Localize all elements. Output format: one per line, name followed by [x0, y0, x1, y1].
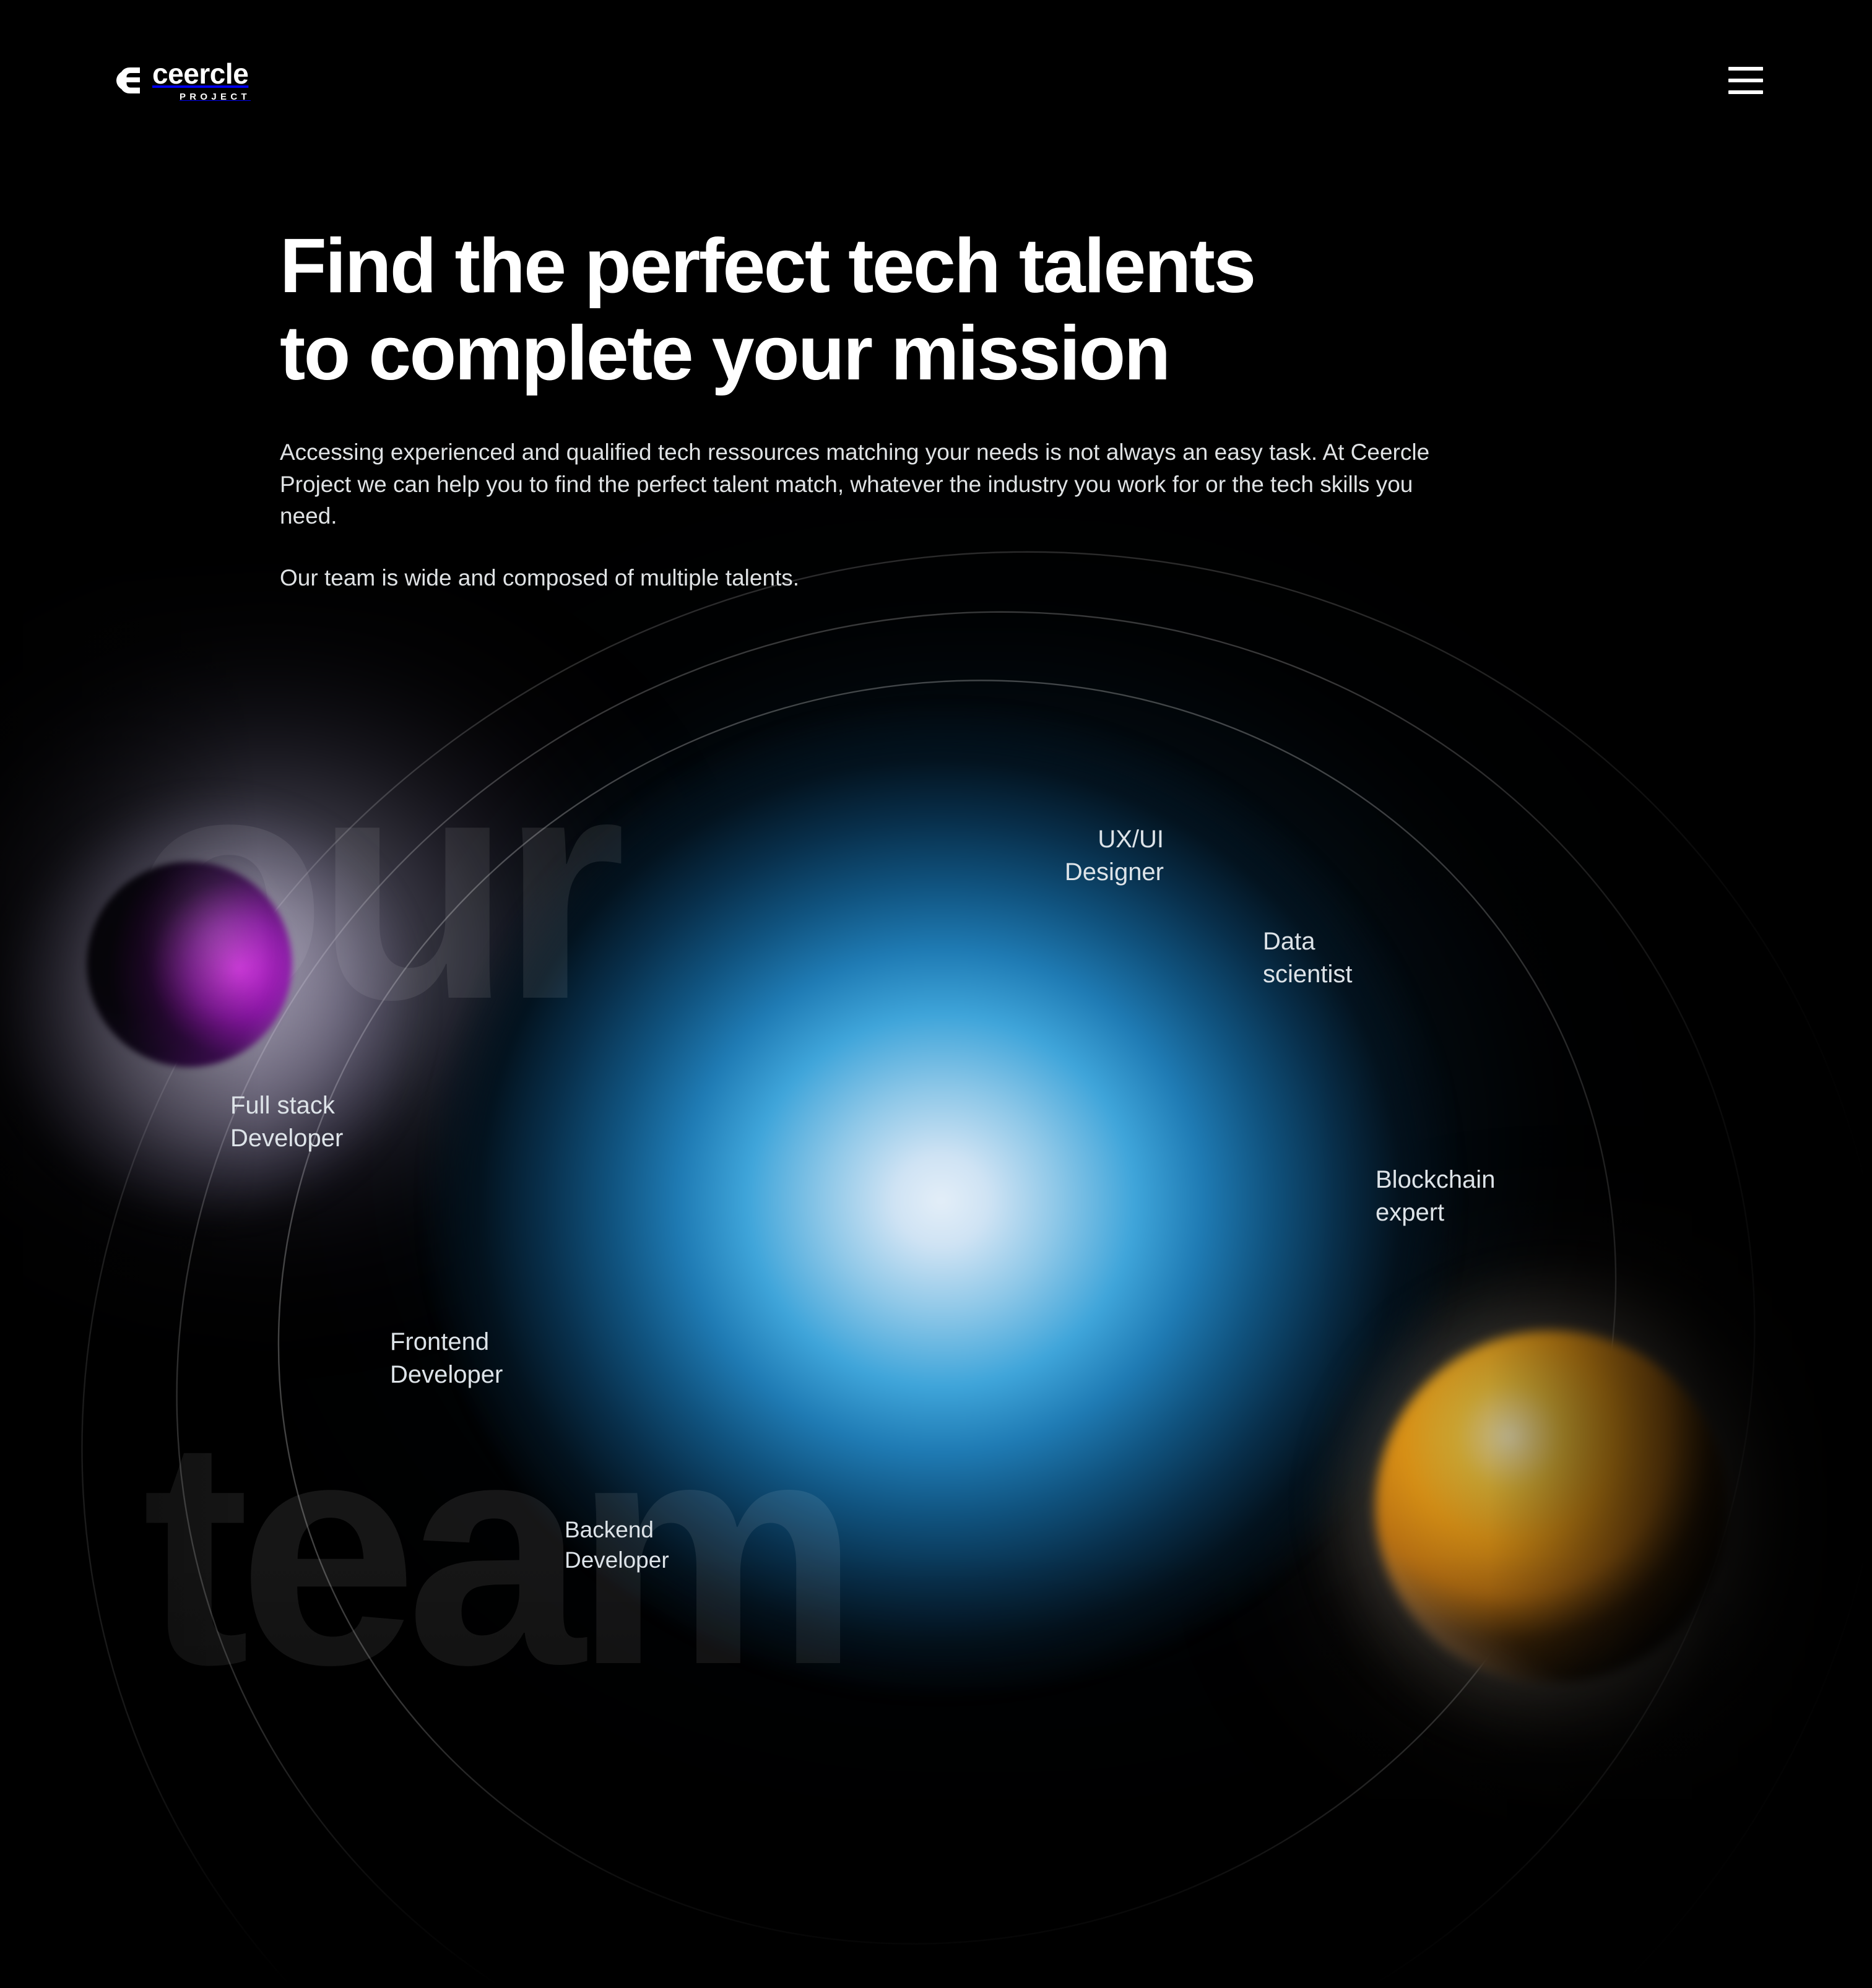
orbit-ring-1	[93, 486, 1801, 1988]
page-title: Find the perfect tech talents to complet…	[280, 223, 1518, 398]
site-header: ceercle PROJECT	[0, 0, 1872, 161]
menu-line-3	[1728, 90, 1763, 94]
page-root: our team ceercle PROJECT	[0, 0, 1872, 1988]
menu-line-2	[1728, 79, 1763, 82]
hero-section: Find the perfect tech talents to complet…	[280, 223, 1518, 594]
background-glow-lavender	[0, 588, 780, 1393]
menu-line-1	[1728, 67, 1763, 71]
hero-paragraph-1: Accessing experienced and qualified tech…	[280, 436, 1456, 532]
background-glow-warm	[1226, 1176, 1872, 1919]
brand-name: ceercle	[152, 59, 248, 88]
page-title-line-2: to complete your mission	[280, 310, 1518, 397]
role-label-blockchain-expert: Blockchain expert	[1376, 1164, 1660, 1229]
background-glow-blue-core	[396, 656, 1486, 1745]
role-label-data-scientist: Data scientist	[1263, 925, 1523, 991]
amber-sphere-halo	[1325, 1275, 1783, 1733]
brand-subtitle: PROJECT	[180, 92, 251, 102]
hero-paragraph-2: Our team is wide and composed of multipl…	[280, 562, 1456, 594]
role-label-full-stack-developer: Full stack Developer	[230, 1089, 490, 1155]
background-wordmark-our: our	[130, 752, 615, 1022]
role-label-frontend-developer: Frontend Developer	[390, 1326, 650, 1391]
brand-logo[interactable]: ceercle PROJECT	[111, 59, 251, 102]
page-title-line-1: Find the perfect tech talents	[280, 223, 1518, 310]
ceercle-monogram-icon	[111, 65, 144, 96]
brand-wordmark: ceercle PROJECT	[152, 59, 251, 102]
purple-sphere	[87, 862, 292, 1067]
hero-body: Accessing experienced and qualified tech…	[280, 436, 1518, 594]
amber-sphere	[1376, 1331, 1728, 1683]
purple-sphere-sheen	[142, 848, 328, 1071]
hamburger-menu-icon[interactable]	[1728, 67, 1763, 94]
role-label-uxui-designer: UX/UI Designer	[854, 823, 1164, 889]
role-label-backend-developer: Backend Developer	[565, 1515, 825, 1576]
